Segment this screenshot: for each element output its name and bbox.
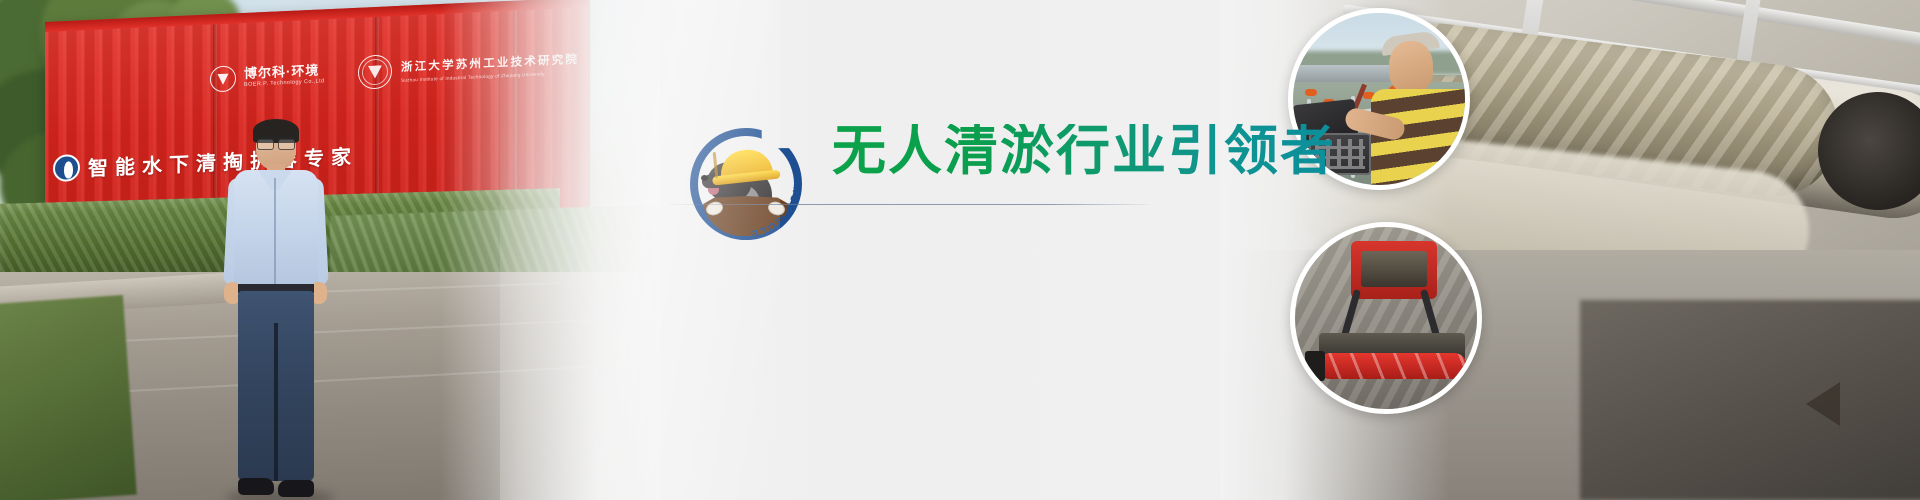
grass-patch <box>0 295 137 500</box>
institute-seal-icon <box>358 54 392 90</box>
logo-arc-label: MUD MOLE <box>748 183 802 240</box>
operator-head <box>1389 41 1433 93</box>
left-photo-fade <box>440 0 660 500</box>
water-drop-icon <box>53 154 80 182</box>
shadow-area <box>1580 300 1920 500</box>
mud-mole-logo: MUD MOLE <box>690 128 802 240</box>
container-seam <box>375 17 379 217</box>
company-brand-mark: 博尔科·环境 BOER.P. Technology Co.,Ltd <box>210 61 325 92</box>
center-content: MUD MOLE 无人清淤行业引领者 <box>660 0 1280 500</box>
man-trouser-split <box>274 323 278 481</box>
orange-float <box>1305 89 1317 96</box>
company-name-en: BOER.P. Technology Co.,Ltd <box>244 79 325 88</box>
headline-divider <box>668 204 1150 205</box>
dredging-robot-photo <box>1290 222 1482 414</box>
logo-arc-text: MUD MOLE <box>690 128 802 240</box>
man-shoe-left <box>238 478 274 495</box>
man-shoe-right <box>278 480 314 497</box>
man-shirt-placket <box>274 178 276 286</box>
page-headline: 无人清淤行业引领者 <box>832 124 1336 178</box>
hero-banner: 博尔科·环境 BOER.P. Technology Co.,Ltd 浙江大学苏州… <box>0 0 1920 500</box>
svg-text:MUD MOLE: MUD MOLE <box>748 183 802 240</box>
operator-striped-shirt <box>1371 89 1470 190</box>
company-seal-icon <box>210 65 236 92</box>
robot-auger <box>1317 353 1467 379</box>
standing-man <box>222 118 332 500</box>
glasses-icon <box>257 137 295 146</box>
container-seam <box>213 24 217 224</box>
flow-arrow-icon <box>1806 382 1840 426</box>
robot-auger-end-cap <box>1305 351 1325 381</box>
left-container-photo: 博尔科·环境 BOER.P. Technology Co.,Ltd 浙江大学苏州… <box>0 0 660 500</box>
